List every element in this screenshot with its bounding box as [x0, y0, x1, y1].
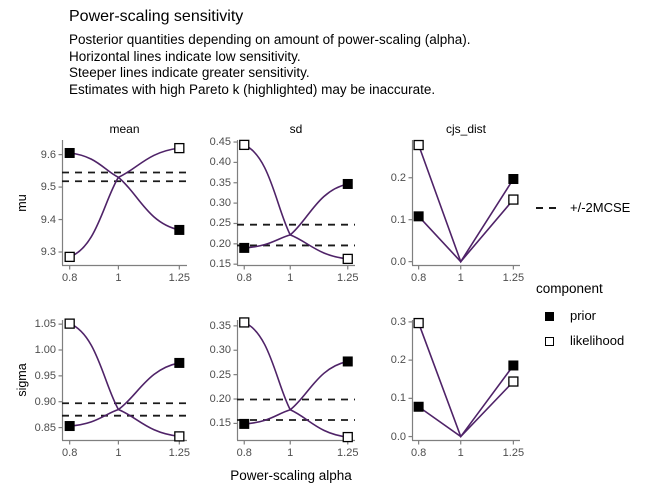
x-tick-label: 1	[287, 447, 293, 459]
x-tick-label: 1	[115, 272, 121, 284]
x-tick-label: 1	[287, 272, 293, 284]
legend-mcse-label: +/-2MCSE	[570, 200, 630, 215]
y-tick-label: 0.85	[20, 422, 56, 434]
data-point-likelihood	[509, 377, 518, 386]
x-tick-label: 0.8	[411, 447, 426, 459]
x-tick-label: 0.8	[411, 272, 426, 284]
y-tick-label: 1.05	[20, 318, 56, 330]
y-tick-label: 0.0	[370, 256, 406, 268]
panel-sigma-mean	[62, 320, 187, 440]
page-title: Power-scaling sensitivity	[69, 8, 243, 26]
data-point-likelihood	[175, 144, 184, 153]
y-tick-label: 0.20	[195, 393, 231, 405]
x-tick-label: 0.8	[62, 447, 77, 459]
y-tick-label: 0.2	[370, 172, 406, 184]
panel-plot-area	[237, 320, 357, 442]
series-line-likelihood	[70, 148, 180, 257]
subtitle-line-4: Estimates with high Pareto k (highlighte…	[69, 82, 471, 99]
y-tick-label: 9.4	[20, 214, 56, 226]
y-tick-label: 0.35	[195, 320, 231, 332]
series-line-prior	[244, 361, 348, 423]
data-point-prior	[175, 358, 184, 367]
subtitle-line-2: Horizontal lines indicate low sensitivit…	[69, 49, 471, 66]
data-point-likelihood	[240, 318, 249, 327]
y-tick-label: 1.00	[20, 344, 56, 356]
facet-col-label-mean: mean	[62, 122, 187, 136]
facet-row-label-mu: mu	[15, 194, 29, 211]
x-tick-label: 1.25	[169, 272, 190, 284]
panel-sigma-sd	[237, 320, 355, 440]
data-point-likelihood	[65, 252, 74, 261]
y-tick-label: 9.3	[20, 246, 56, 258]
y-tick-label: 0.30	[195, 197, 231, 209]
data-point-likelihood	[414, 141, 423, 150]
y-tick-label: 0.2	[370, 354, 406, 366]
legend-label-prior[interactable]: prior	[570, 308, 596, 323]
y-tick-label: 0.30	[195, 344, 231, 356]
data-point-prior	[240, 243, 249, 252]
y-tick-label: 0.35	[195, 177, 231, 189]
x-axis-title: Power-scaling alpha	[62, 468, 520, 483]
data-point-prior	[65, 148, 74, 157]
data-point-likelihood	[414, 319, 423, 328]
y-tick-label: 9.6	[20, 149, 56, 161]
data-point-likelihood	[175, 432, 184, 441]
legend-title-component: component	[536, 281, 603, 296]
panel-sigma-cjs_dist	[412, 320, 520, 440]
data-point-prior	[509, 361, 518, 370]
data-point-prior	[240, 419, 249, 428]
y-tick-label: 0.25	[195, 369, 231, 381]
series-line-prior	[419, 179, 514, 262]
data-point-likelihood	[343, 433, 352, 442]
y-tick-label: 0.1	[370, 214, 406, 226]
series-line-prior	[70, 153, 180, 230]
legend-key-prior-icon	[545, 312, 554, 321]
facet-col-label-sd: sd	[237, 122, 355, 136]
mcse-dashed-line-key	[536, 203, 562, 213]
y-tick-label: 0.45	[195, 136, 231, 148]
legend-label-likelihood[interactable]: likelihood	[570, 333, 624, 348]
data-point-prior	[343, 357, 352, 366]
x-tick-label: 0.8	[237, 272, 252, 284]
panel-plot-area	[412, 140, 522, 267]
series-line-likelihood	[419, 145, 514, 262]
y-tick-label: 0.40	[195, 156, 231, 168]
data-point-likelihood	[509, 195, 518, 204]
x-tick-label: 1.25	[337, 447, 358, 459]
x-tick-label: 1	[458, 447, 464, 459]
x-tick-label: 0.8	[237, 447, 252, 459]
x-tick-label: 1.25	[503, 272, 524, 284]
x-tick-label: 1.25	[337, 272, 358, 284]
y-tick-label: 0.90	[20, 396, 56, 408]
data-point-prior	[175, 225, 184, 234]
y-tick-label: 0.0	[370, 431, 406, 443]
legend-key-likelihood-icon	[545, 337, 554, 346]
panel-plot-area	[62, 320, 189, 442]
page-subtitle: Posterior quantities depending on amount…	[69, 32, 471, 98]
y-tick-label: 0.15	[195, 258, 231, 270]
panel-plot-area	[62, 140, 189, 267]
y-tick-label: 0.15	[195, 417, 231, 429]
data-point-likelihood	[240, 140, 249, 149]
y-tick-label: 0.3	[370, 316, 406, 328]
x-tick-label: 1.25	[169, 447, 190, 459]
series-line-likelihood	[70, 324, 180, 437]
y-tick-label: 9.5	[20, 181, 56, 193]
panel-mu-cjs_dist	[412, 140, 520, 265]
facet-col-label-cjs-dist: cjs_dist	[412, 122, 520, 136]
x-tick-label: 1	[115, 447, 121, 459]
data-point-likelihood	[65, 319, 74, 328]
x-tick-label: 1.25	[503, 447, 524, 459]
subtitle-line-3: Steeper lines indicate greater sensitivi…	[69, 65, 471, 82]
series-line-likelihood	[419, 323, 514, 437]
panel-mu-mean	[62, 140, 187, 265]
data-point-prior	[414, 212, 423, 221]
data-point-prior	[65, 422, 74, 431]
data-point-likelihood	[343, 254, 352, 263]
data-point-prior	[509, 175, 518, 184]
series-line-prior	[419, 365, 514, 436]
panel-plot-area	[412, 320, 522, 442]
data-point-prior	[414, 402, 423, 411]
chart-root: Power-scaling sensitivity Posterior quan…	[0, 0, 672, 480]
y-tick-label: 0.1	[370, 392, 406, 404]
y-tick-label: 0.95	[20, 370, 56, 382]
subtitle-line-1: Posterior quantities depending on amount…	[69, 32, 471, 49]
data-point-prior	[343, 179, 352, 188]
panel-mu-sd	[237, 140, 355, 265]
series-line-likelihood	[244, 145, 348, 259]
x-tick-label: 0.8	[62, 272, 77, 284]
panel-plot-area	[237, 140, 357, 267]
x-tick-label: 1	[458, 272, 464, 284]
y-tick-label: 0.25	[195, 217, 231, 229]
y-tick-label: 0.20	[195, 238, 231, 250]
series-line-prior	[70, 363, 180, 426]
